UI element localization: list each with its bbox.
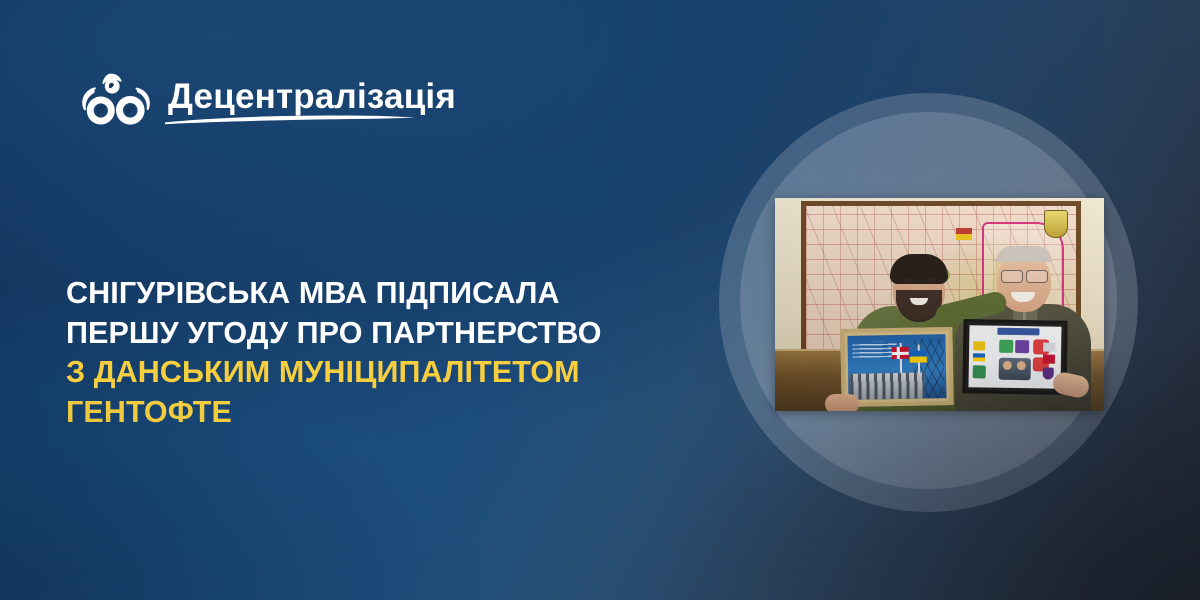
- brand-logo[interactable]: Децентралізація: [78, 72, 456, 130]
- brush-underline-icon: [164, 114, 416, 125]
- headline-line-2: ПЕРШУ УГОДУ ПРО ПАРТНЕРСТВО: [66, 314, 726, 353]
- decentralization-banner: Децентралізація СНІГУРІВСЬКА МВА ПІДПИСА…: [0, 0, 1200, 600]
- headline-line-1: СНІГУРІВСЬКА МВА ПІДПИСАЛА: [66, 274, 726, 313]
- headline-line-3: З ДАНСЬКИМ МУНІЦИПАЛІТЕТОМ: [66, 353, 726, 392]
- hero-photo: [775, 198, 1104, 411]
- brand-wordmark: Децентралізація: [168, 79, 456, 114]
- decentralization-swirl-icon: [78, 72, 154, 130]
- brand-wordmark-wrap: Децентралізація: [168, 79, 456, 124]
- headline-line-4: ГЕНТОФТЕ: [66, 393, 726, 432]
- headline: СНІГУРІВСЬКА МВА ПІДПИСАЛА ПЕРШУ УГОДУ П…: [66, 274, 726, 432]
- photo-shading-overlay: [775, 198, 1104, 411]
